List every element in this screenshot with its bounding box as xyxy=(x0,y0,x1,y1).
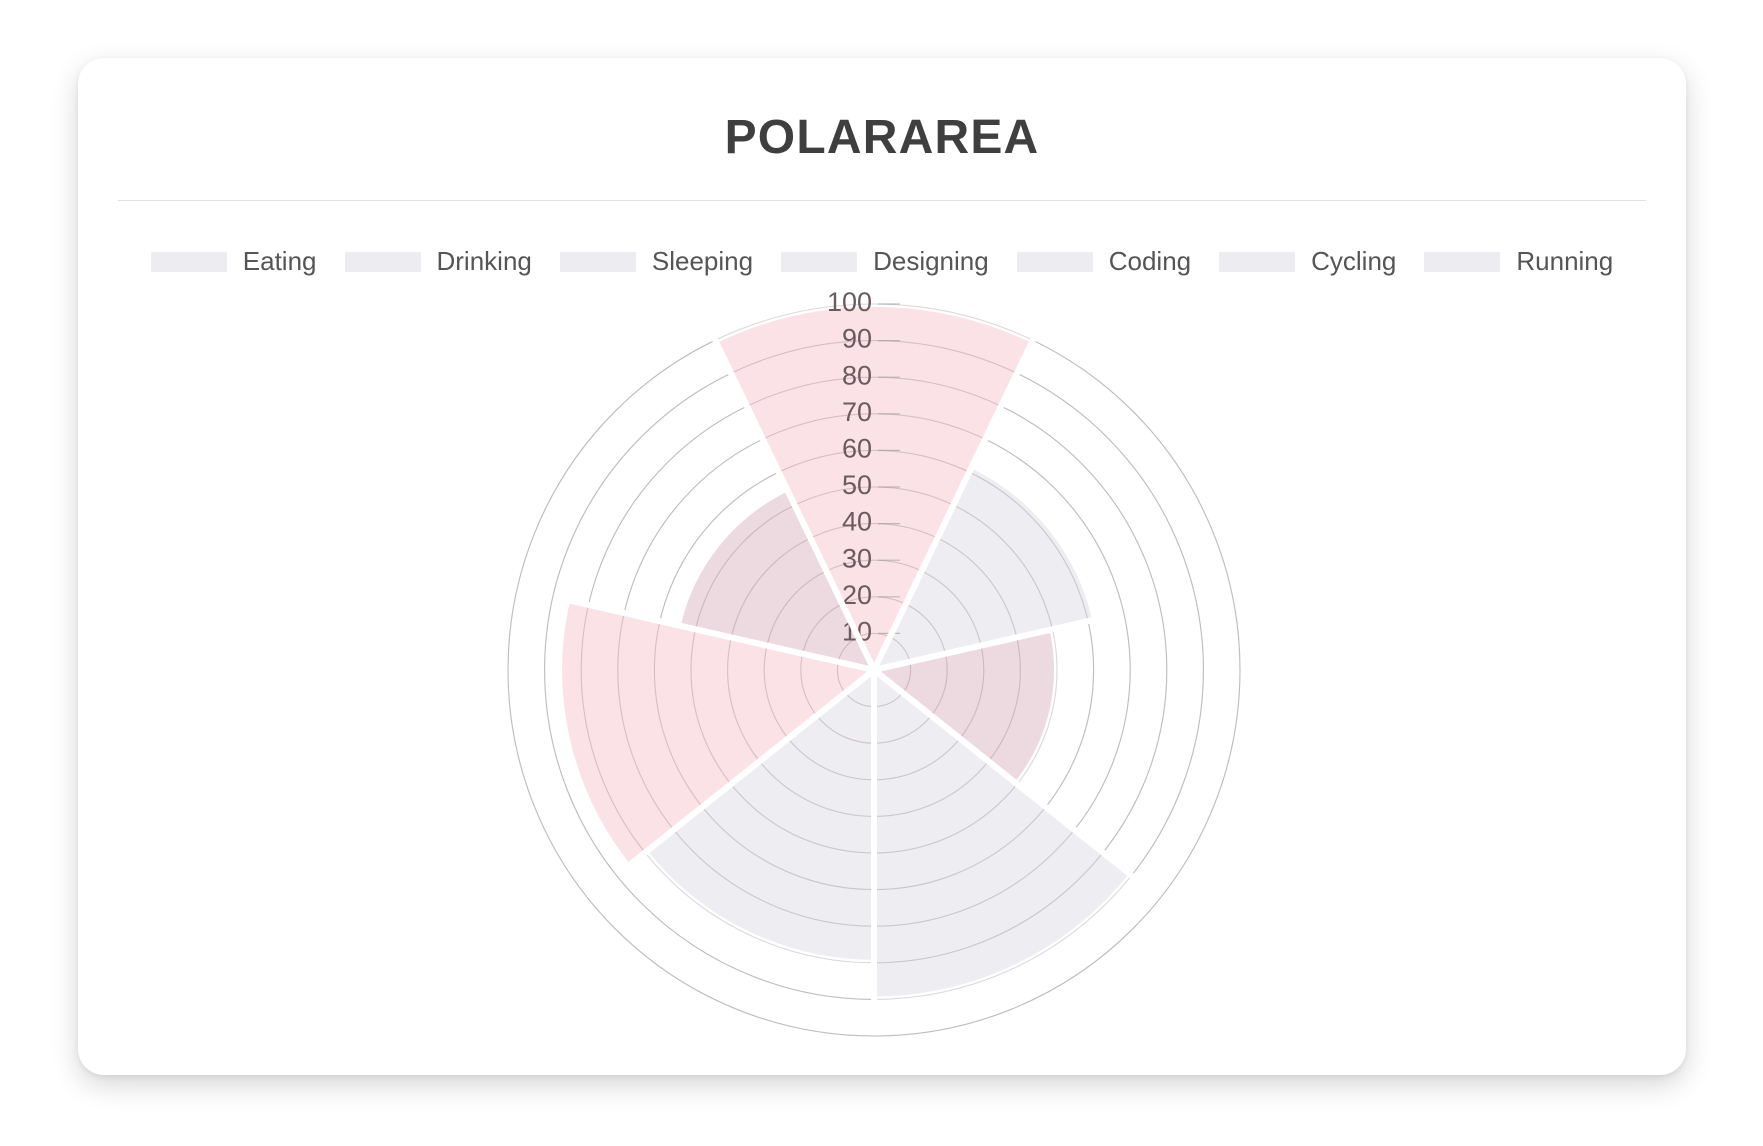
chart-card: POLARAREA EatingDrinkingSleepingDesignin… xyxy=(78,58,1686,1075)
radial-tick-label: 40 xyxy=(842,507,872,537)
radial-tick-label: 60 xyxy=(842,434,872,464)
radial-tick-label: 80 xyxy=(842,360,872,390)
radial-tick-label: 30 xyxy=(842,543,872,573)
radial-tick-label: 90 xyxy=(842,324,872,354)
radial-tick-label: 20 xyxy=(842,580,872,610)
radial-tick-label: 70 xyxy=(842,397,872,427)
polar-area-chart: 102030405060708090100 xyxy=(78,58,1686,1075)
radial-tick-label: 100 xyxy=(827,287,872,317)
polar-area-svg[interactable]: 102030405060708090100 xyxy=(78,58,1686,1075)
radial-tick-label: 50 xyxy=(842,470,872,500)
